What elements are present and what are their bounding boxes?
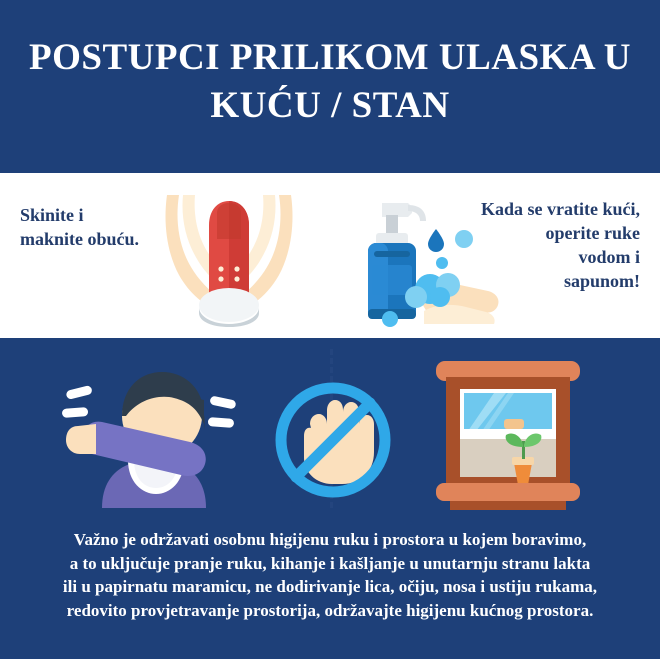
icon-row [0, 338, 660, 524]
footer-line-2: a to uključuje pranje ruku, kihanje i ka… [0, 552, 660, 576]
remove-shoes-line-2: maknite obuću. [20, 227, 180, 251]
footer-line-4: redovito provjetravanje prostorija, održ… [0, 599, 660, 623]
footer-line-3: ili u papirnatu maramicu, ne dodirivanje… [0, 575, 660, 599]
remove-shoes-line-1: Skinite i [20, 203, 180, 227]
no-touching-face-icon [272, 380, 394, 500]
open-window-ventilation-icon [428, 355, 588, 510]
wash-hands-text: Kada se vratite kući, operite ruke vodom… [440, 197, 640, 293]
remove-shoes-text: Skinite i maknite obuću. [20, 203, 180, 251]
wash-hands-line-1: Kada se vratite kući, [440, 197, 640, 221]
poster-header: POSTUPCI PRILIKOM ULASKA U KUĆU / STAN [0, 0, 660, 173]
step-remove-shoes: Skinite i maknite obuću. [0, 173, 330, 338]
hands-removing-shoe-icon [165, 195, 293, 327]
footer-text: Važno je održavati osobnu higijenu ruku … [0, 528, 660, 622]
poster-title: POSTUPCI PRILIKOM ULASKA U KUĆU / STAN [0, 34, 660, 130]
mid-panel: Skinite i maknite obuću. [0, 173, 660, 338]
footer-line-1: Važno je održavati osobnu higijenu ruku … [0, 528, 660, 552]
infographic-poster: POSTUPCI PRILIKOM ULASKA U KUĆU / STAN S… [0, 0, 660, 659]
title-line-1: POSTUPCI PRILIKOM [29, 37, 429, 78]
cough-into-elbow-icon [62, 360, 242, 508]
wash-hands-line-4: sapunom! [440, 269, 640, 293]
wash-hands-line-3: vodom i [440, 245, 640, 269]
step-wash-hands: Kada se vratite kući, operite ruke vodom… [334, 173, 660, 338]
wash-hands-line-2: operite ruke [440, 221, 640, 245]
